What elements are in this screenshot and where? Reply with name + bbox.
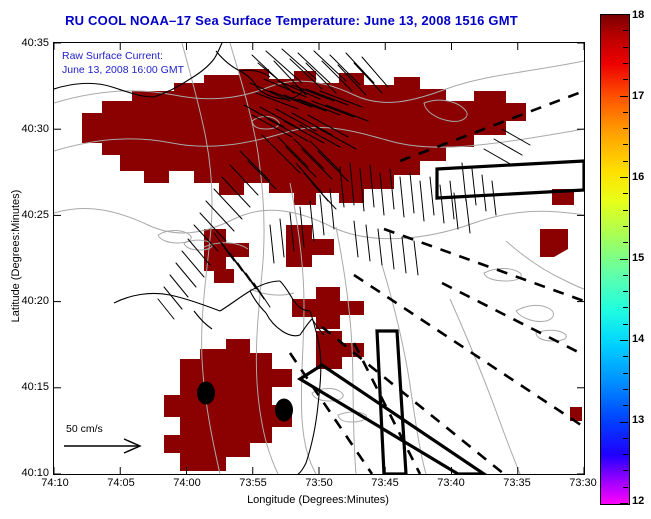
- x-tick-8: 73:30: [569, 477, 597, 489]
- y-tick-0: 40:35: [21, 37, 49, 49]
- x-tick-7: 73:35: [503, 477, 531, 489]
- x-axis-tick-labels: 74:10 74:05 74:00 73:55 73:50 73:45 73:4…: [0, 477, 651, 493]
- cb-tick-2: 16: [632, 171, 644, 183]
- y-tick-4: 40:15: [21, 381, 49, 393]
- x-tick-6: 73:40: [437, 477, 465, 489]
- y-tick-3: 40:20: [21, 295, 49, 307]
- map-plot-area[interactable]: Raw Surface Current: June 13, 2008 16:00…: [53, 42, 585, 475]
- velocity-scale-legend: 50 cm/s: [60, 423, 152, 458]
- y-tick-1: 40:30: [21, 123, 49, 135]
- cb-tick-5: 13: [632, 414, 644, 426]
- x-tick-0: 74:10: [41, 477, 69, 489]
- cb-tick-4: 14: [632, 333, 644, 345]
- x-tick-2: 74:00: [173, 477, 201, 489]
- x-tick-1: 74:05: [107, 477, 135, 489]
- cb-tick-6: 12: [632, 495, 644, 507]
- colorbar-tick-marks: [600, 14, 630, 503]
- sst-pixel-layer: [82, 69, 582, 471]
- cb-tick-3: 15: [632, 252, 644, 264]
- velocity-scale-label: 50 cm/s: [66, 423, 152, 435]
- x-tick-4: 73:50: [305, 477, 333, 489]
- cb-tick-1: 17: [632, 90, 644, 102]
- x-tick-5: 73:45: [371, 477, 399, 489]
- velocity-scale-arrow-icon: [60, 435, 152, 455]
- map-canvas: [54, 43, 584, 474]
- y-axis-title: Latitude (Degrees:Minutes): [10, 156, 22, 356]
- x-axis-title: Longitude (Degrees:Minutes): [53, 494, 583, 506]
- figure-title: RU COOL NOAA–17 Sea Surface Temperature:…: [0, 13, 583, 28]
- x-tick-3: 73:55: [239, 477, 267, 489]
- y-tick-2: 40:25: [21, 209, 49, 221]
- cb-tick-0: 18: [632, 9, 644, 21]
- radar-station-marker-1: [197, 382, 215, 405]
- radar-station-marker-2: [275, 399, 293, 422]
- y-axis-tick-labels: 40:35 40:30 40:25 40:20 40:15 40:10: [0, 0, 49, 519]
- sst-map-figure: RU COOL NOAA–17 Sea Surface Temperature:…: [0, 0, 651, 519]
